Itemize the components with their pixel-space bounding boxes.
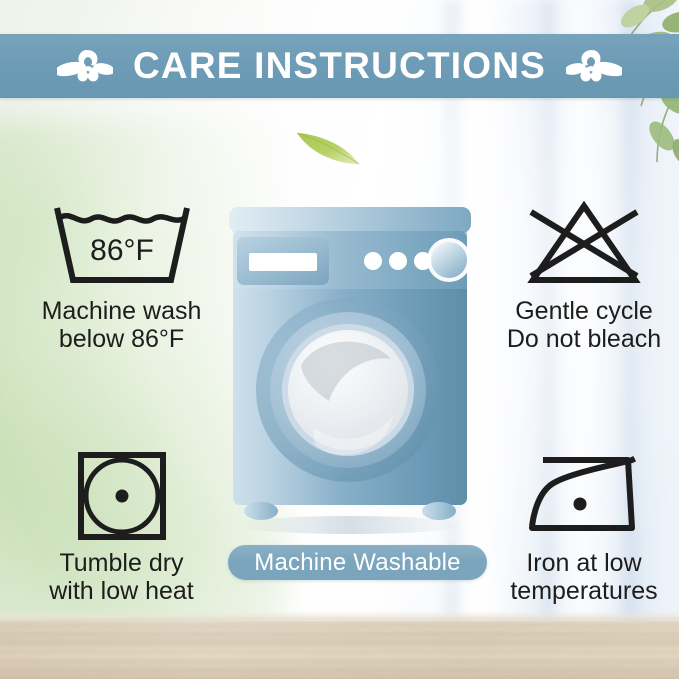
wash-tub-icon: 86°F xyxy=(47,198,197,290)
table-edge-highlight xyxy=(0,611,679,621)
detergent-drawer-slot xyxy=(249,253,317,271)
wash-temperature-text: 86°F xyxy=(90,234,154,267)
washing-machine-illustration xyxy=(225,205,475,535)
wash-tub-symbol-wrap: 86°F xyxy=(47,196,197,291)
do-not-bleach-symbol-wrap xyxy=(519,196,649,291)
washer-foot-right xyxy=(422,502,456,520)
care-item-gentle-cycle-no-bleach: Gentle cycle Do not bleach xyxy=(492,196,676,353)
do-not-bleach-triangle-icon xyxy=(519,198,649,290)
control-button-1 xyxy=(364,252,382,270)
floating-leaf xyxy=(293,124,365,168)
control-knob xyxy=(431,242,467,278)
wooden-table-grain xyxy=(0,621,679,679)
care-label-gentle-cycle-no-bleach: Gentle cycle Do not bleach xyxy=(507,297,661,353)
care-item-iron-low: Iron at low temperatures xyxy=(492,448,676,605)
care-item-machine-wash: 86°F Machine wash below 86°F xyxy=(14,196,229,353)
page-title: CARE INSTRUCTIONS xyxy=(133,45,546,87)
washer-foot-left xyxy=(244,502,278,520)
fleur-de-lis-ornament-left xyxy=(57,42,113,90)
status-badge-machine-washable: Machine Washable xyxy=(228,545,487,580)
washer-top-lid xyxy=(229,207,471,233)
care-label-iron-low: Iron at low temperatures xyxy=(510,549,657,605)
care-label-tumble-dry: Tumble dry with low heat xyxy=(49,549,194,605)
tumble-dry-low-heat-icon xyxy=(74,450,170,542)
iron-low-temperature-icon xyxy=(522,450,646,542)
washer-ground-shadow xyxy=(238,516,462,534)
fleur-de-lis-ornament-right xyxy=(566,42,622,90)
control-button-2 xyxy=(389,252,407,270)
iron-symbol-wrap xyxy=(522,448,646,543)
banner: CARE INSTRUCTIONS xyxy=(0,34,679,98)
care-instructions-poster: CARE INSTRUCTIONS xyxy=(0,0,679,679)
status-badge-label: Machine Washable xyxy=(254,549,460,577)
care-label-machine-wash: Machine wash below 86°F xyxy=(42,297,202,353)
tumble-dry-symbol-wrap xyxy=(74,448,170,543)
care-item-tumble-dry: Tumble dry with low heat xyxy=(14,448,229,605)
